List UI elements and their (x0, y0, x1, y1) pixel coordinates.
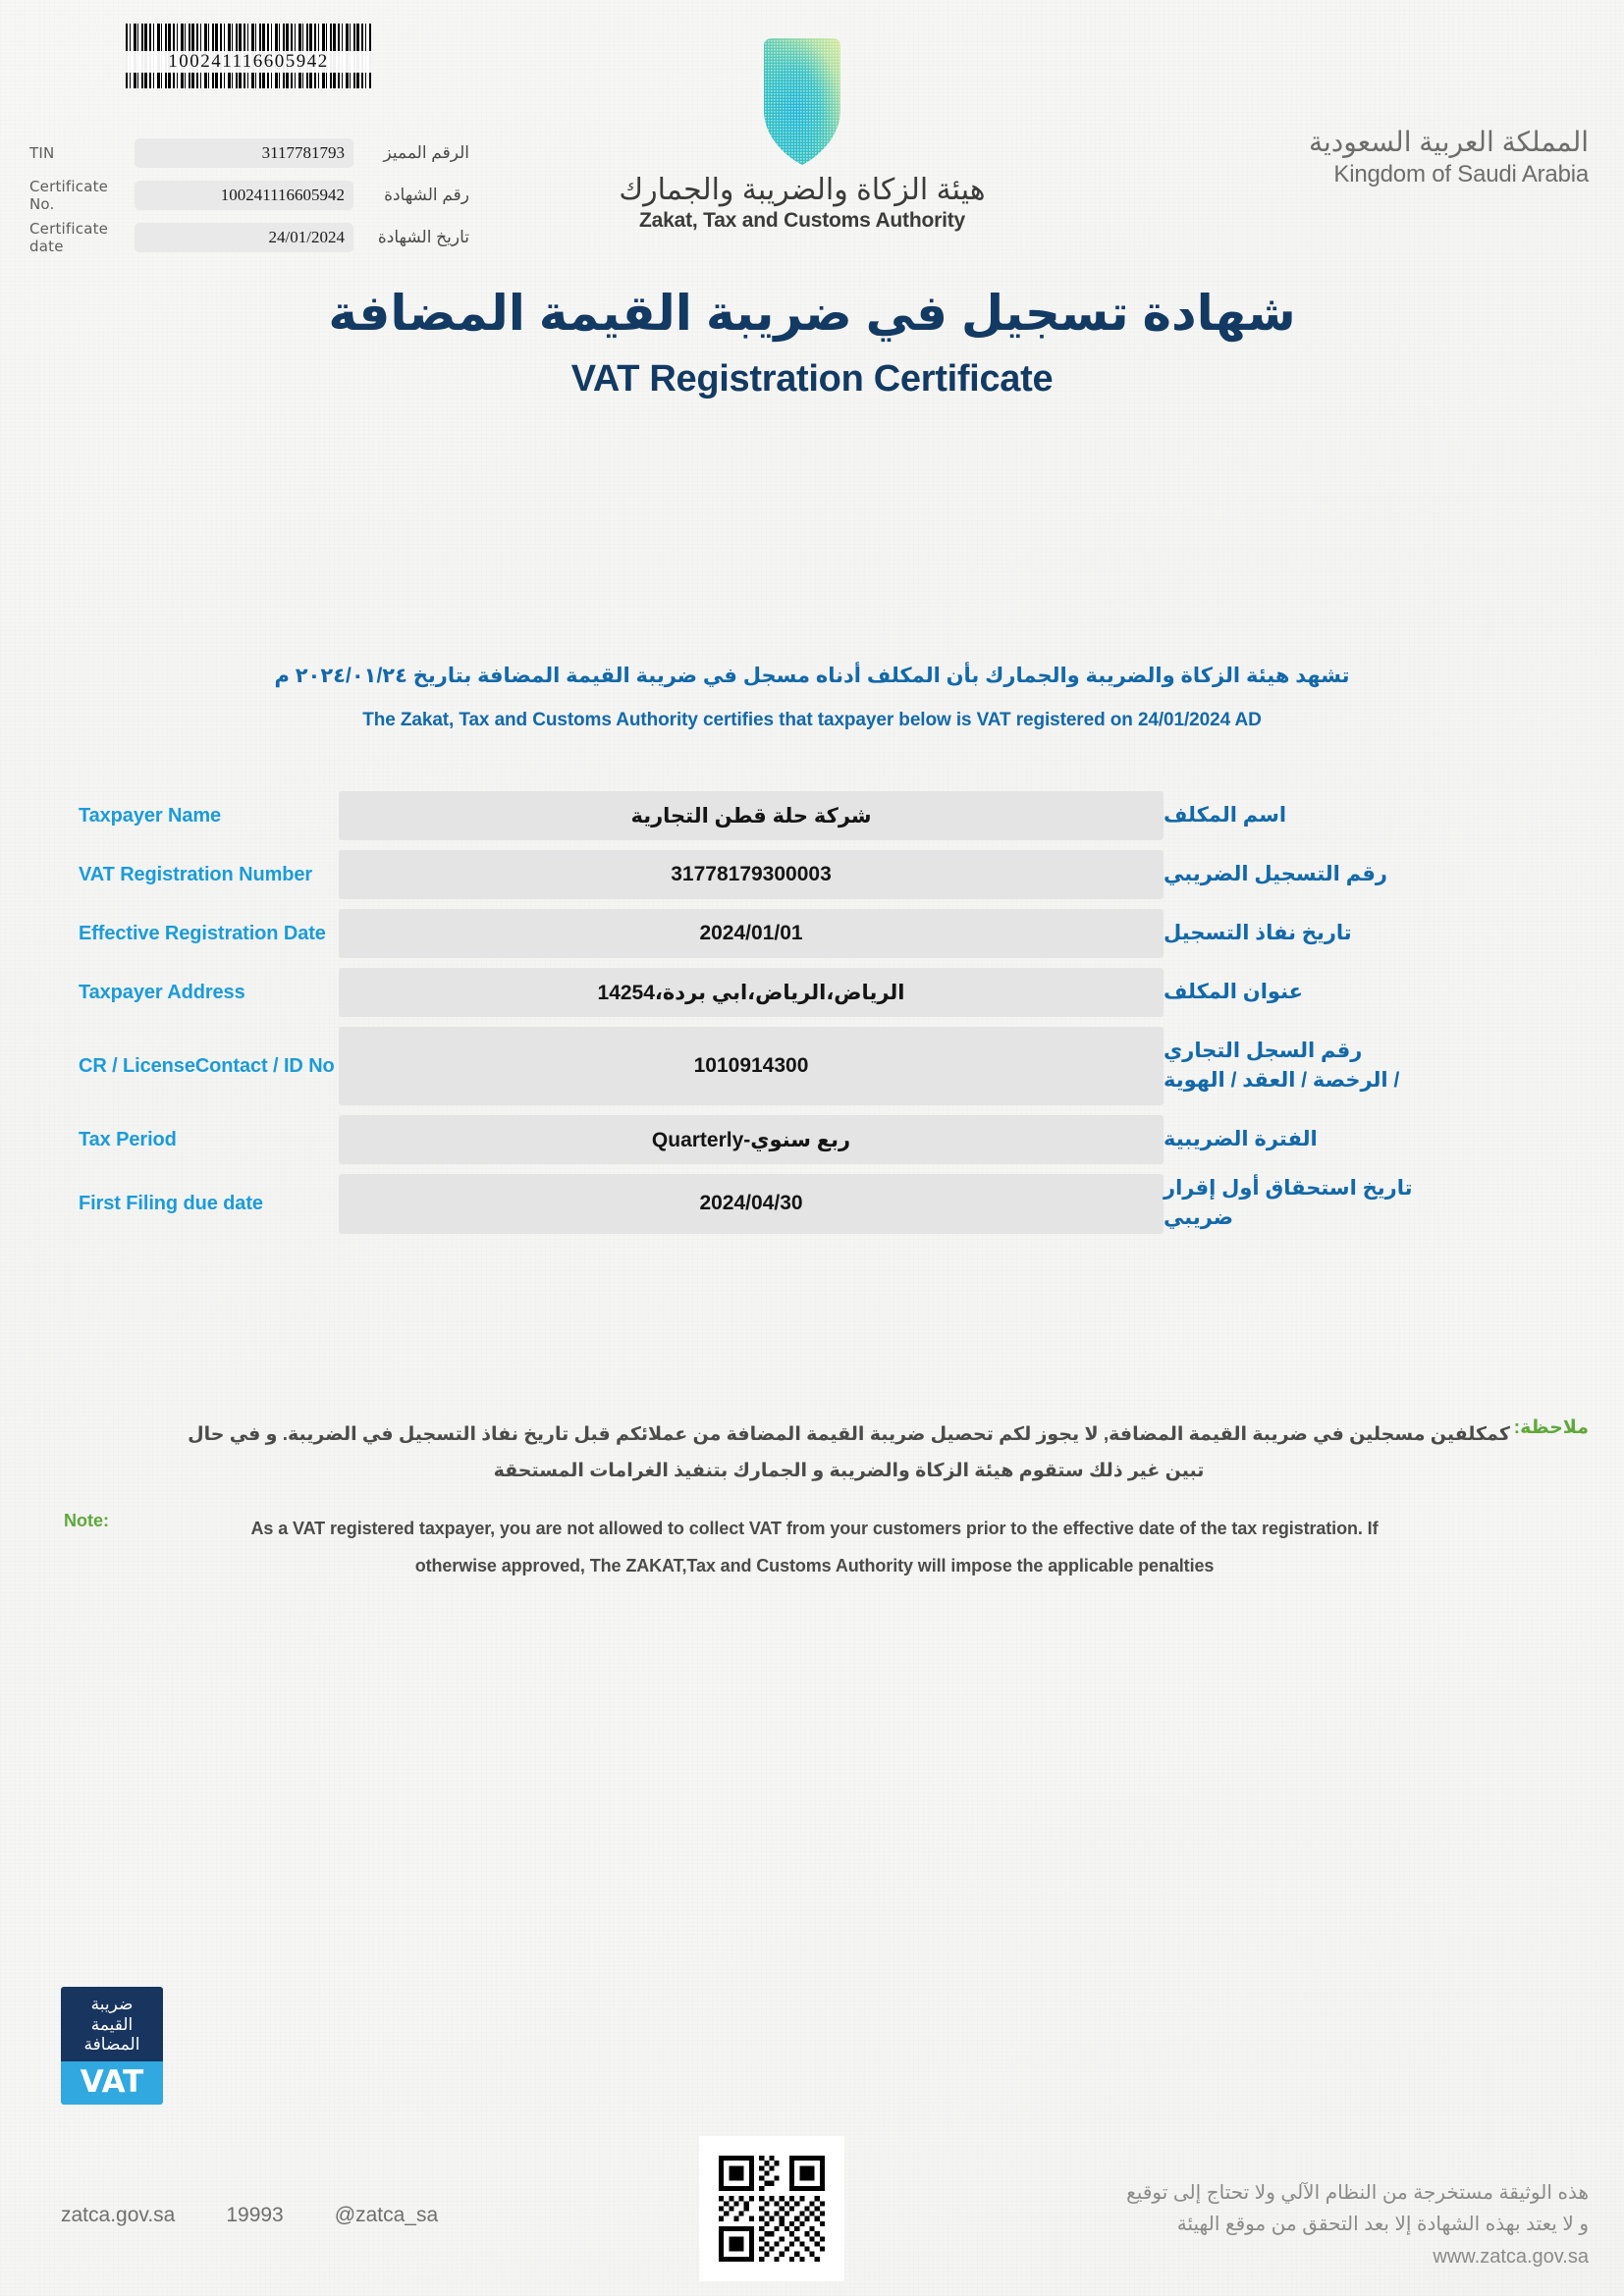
row-label-ar-line1: عنوان المكلف (1164, 978, 1303, 1007)
row-label-en-line1: First Filing due date (79, 1191, 263, 1217)
row-label-ar: اسم المكلف (1164, 791, 1624, 840)
footer-disclaimer: هذه الوثيقة مستخرجة من النظام الآلي ولا … (1126, 2177, 1589, 2272)
page-title-en: VAT Registration Certificate (0, 358, 1624, 400)
row-label-ar: رقم السجل التجاري / الرخصة / العقد / اله… (1164, 1027, 1624, 1105)
vat-badge-logo: ضريبة القيمة المضافة VAT (61, 1987, 163, 2105)
disclaimer-line-1: هذه الوثيقة مستخرجة من النظام الآلي ولا … (1126, 2177, 1589, 2209)
row-label-ar: الفترة الضريبية (1164, 1115, 1624, 1164)
note-text-ar: كمكلفين مسجلين في ضريبة القيمة المضافة, … (187, 1416, 1511, 1489)
note-key-en: Note: (64, 1511, 109, 1531)
qr-code-container (699, 2136, 844, 2281)
note-key-ar: ملاحظة: (1514, 1416, 1589, 1439)
vat-badge-line2: القيمة (61, 2015, 163, 2036)
header-row-tin: TIN 3117781793 الرقم المميز (29, 137, 353, 169)
kingdom-name-ar: المملكة العربية السعودية (1309, 126, 1589, 158)
certificate-data-table: Taxpayer Name شركة حلة قطن التجارية اسم … (0, 791, 1624, 1244)
row-label-en-line1: Taxpayer Name (79, 803, 221, 829)
row-label-en: First Filing due date (0, 1174, 339, 1234)
certificate-date-label-ar: تاريخ الشهادة (359, 228, 469, 247)
note-row-en: Note: As a VAT registered taxpayer, you … (0, 1511, 1624, 1585)
tin-label-ar: الرقم المميز (359, 143, 469, 163)
row-value: ربع سنوي-Quarterly (339, 1115, 1164, 1164)
footer-contacts: zatca.gov.sa 19993 @zatca_sa (61, 2204, 438, 2227)
row-label-ar: عنوان المكلف (1164, 968, 1624, 1017)
row-label-ar-line2: ضريبي (1164, 1203, 1233, 1233)
row-label-en-line1: Effective Registration Date (79, 921, 326, 947)
row-value: 1010914300 (339, 1027, 1164, 1105)
kingdom-name-en: Kingdom of Saudi Arabia (1309, 161, 1589, 188)
row-label-ar: رقم التسجيل الضريبي (1164, 850, 1624, 899)
header-id-fields: TIN 3117781793 الرقم المميز Certificate … (29, 137, 353, 264)
row-label-ar-line2: / الرخصة / العقد / الهوية (1164, 1066, 1399, 1095)
row-label-ar-line1: تاريخ نفاذ التسجيل (1164, 919, 1352, 948)
row-label-ar: تاريخ نفاذ التسجيل (1164, 909, 1624, 958)
footer-social-handle[interactable]: @zatca_sa (335, 2204, 438, 2227)
row-label-en: Taxpayer Name (0, 791, 339, 840)
footer-website[interactable]: zatca.gov.sa (61, 2204, 175, 2227)
row-value: 2024/04/30 (339, 1174, 1164, 1234)
certificate-no-label-ar: رقم الشهادة (359, 186, 469, 205)
row-label-en-line1: Tax Period (79, 1127, 177, 1153)
row-label-en-line1: Taxpayer Address (79, 980, 245, 1006)
row-label-en-line2: Contact / ID No (195, 1053, 335, 1080)
certificate-date-label-en: Certificate date (29, 220, 135, 255)
row-label-ar-line1: اسم المكلف (1164, 801, 1286, 830)
table-row: CR / License Contact / ID No 1010914300 … (0, 1027, 1624, 1105)
row-label-ar-line1: الفترة الضريبية (1164, 1125, 1318, 1154)
note-row-ar: ملاحظة: كمكلفين مسجلين في ضريبة القيمة ا… (0, 1416, 1624, 1489)
row-value: شركة حلة قطن التجارية (339, 791, 1164, 840)
header-row-certificate-no: Certificate No. 100241116605942 رقم الشه… (29, 180, 353, 211)
tin-label-en: TIN (29, 144, 135, 162)
disclaimer-url[interactable]: www.zatca.gov.sa (1126, 2241, 1589, 2272)
header-row-certificate-date: Certificate date 24/01/2024 تاريخ الشهاد… (29, 222, 353, 253)
row-label-ar: تاريخ استحقاق أول إقرار ضريبي (1164, 1174, 1624, 1234)
row-value: الرياض،الرياض،ابي بردة،14254 (339, 968, 1164, 1017)
vat-badge-line3: المضافة (61, 2035, 163, 2056)
row-label-ar-line1: تاريخ استحقاق أول إقرار (1164, 1174, 1413, 1203)
table-row: Taxpayer Address الرياض،الرياض،ابي بردة،… (0, 968, 1624, 1017)
certificate-page: 100241116605942 TIN 3117781793 الرقم الم… (0, 0, 1624, 2296)
kingdom-branding: المملكة العربية السعودية Kingdom of Saud… (1309, 126, 1589, 188)
footer-phone: 19993 (226, 2204, 283, 2227)
vat-badge-acronym-text: VAT (81, 2064, 144, 2100)
row-label-ar-line1: رقم التسجيل الضريبي (1164, 860, 1387, 889)
zatca-shield-logo-icon (750, 37, 854, 167)
row-label-en-line1: CR / License (79, 1053, 195, 1080)
vat-badge-arabic: ضريبة القيمة المضافة (61, 1987, 163, 2061)
note-section: ملاحظة: كمكلفين مسجلين في ضريبة القيمة ا… (0, 1416, 1624, 1585)
authority-name-en: Zakat, Tax and Customs Authority (596, 209, 1008, 233)
row-label-en: CR / License Contact / ID No (0, 1027, 339, 1105)
authority-name-ar: هيئة الزكاة والضريبة والجمارك (596, 173, 1008, 207)
barcode-number: 100241116605942 (126, 51, 371, 73)
certify-statement-ar: تشهد هيئة الزكاة والضريبة والجمارك بأن ا… (0, 664, 1624, 688)
row-value: 2024/01/01 (339, 909, 1164, 958)
barcode: 100241116605942 (126, 24, 371, 88)
row-label-en: Taxpayer Address (0, 968, 339, 1017)
table-row: Tax Period ربع سنوي-Quarterly الفترة الض… (0, 1115, 1624, 1164)
page-title-ar: شهادة تسجيل في ضريبة القيمة المضافة (0, 285, 1624, 342)
zatca-branding: هيئة الزكاة والضريبة والجمارك Zakat, Tax… (596, 37, 1008, 233)
row-value: 31778179300003 (339, 850, 1164, 899)
row-label-en-line1: VAT Registration Number (79, 862, 312, 888)
row-label-ar-line1: رقم السجل التجاري (1164, 1037, 1362, 1066)
qr-code-icon (719, 2156, 825, 2262)
table-row: Effective Registration Date 2024/01/01 ت… (0, 909, 1624, 958)
certify-statement-en: The Zakat, Tax and Customs Authority cer… (0, 710, 1624, 731)
vat-badge-acronym: VAT (61, 2061, 163, 2105)
table-row: Taxpayer Name شركة حلة قطن التجارية اسم … (0, 791, 1624, 840)
row-label-en: VAT Registration Number (0, 850, 339, 899)
certificate-date-value: 24/01/2024 (135, 223, 353, 252)
vat-badge-line1: ضريبة (61, 1995, 163, 2015)
row-label-en: Effective Registration Date (0, 909, 339, 958)
certificate-no-value: 100241116605942 (135, 181, 353, 210)
table-row: VAT Registration Number 31778179300003 ر… (0, 850, 1624, 899)
disclaimer-line-2: و لا يعتد بهذه الشهادة إلا بعد التحقق من… (1126, 2209, 1589, 2240)
row-label-en: Tax Period (0, 1115, 339, 1164)
note-text-en: As a VAT registered taxpayer, you are no… (211, 1511, 1418, 1585)
certificate-no-label-en: Certificate No. (29, 178, 135, 213)
tin-value: 3117781793 (135, 138, 353, 168)
table-row: First Filing due date 2024/04/30 تاريخ ا… (0, 1174, 1624, 1234)
